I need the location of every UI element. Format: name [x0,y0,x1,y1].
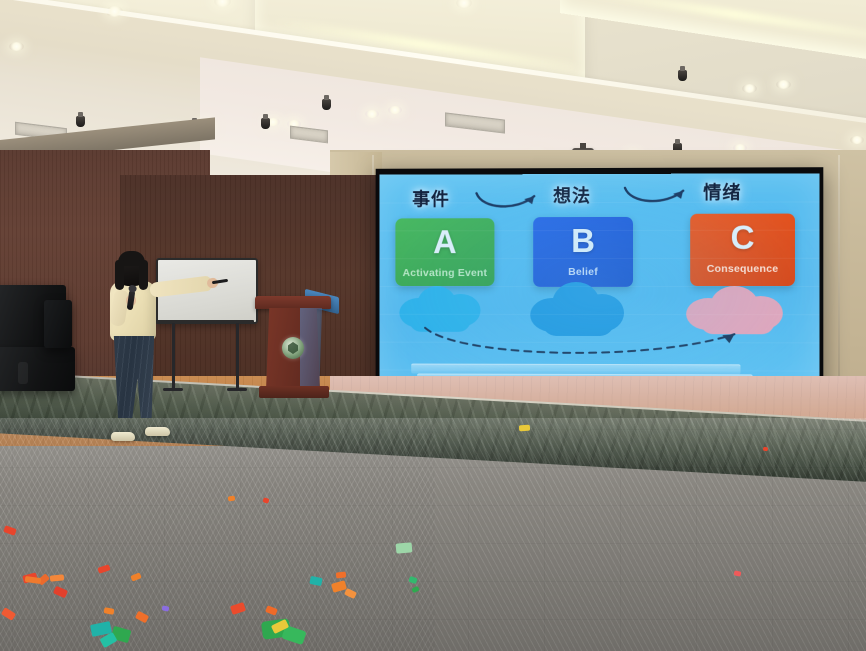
smoke-detector-icon [678,70,687,81]
ceiling-sensor-icon [76,116,85,127]
card-letter-c: C [730,221,754,254]
whiteboard-foot [227,388,247,391]
pa-speaker-bottom [0,347,75,391]
card-consequence[interactable]: C Consequence [690,214,795,286]
downlight-icon [365,110,379,118]
confetti-piece [336,571,347,578]
slide-heading-event: 事件 [412,185,450,211]
downlight-icon [9,42,24,51]
podium-base [259,386,329,398]
slide-heading-thought: 想法 [553,182,591,208]
card-label-c: Consequence [707,264,779,275]
presenter-shoe-right [145,427,170,436]
whiteboard-leg [236,323,239,389]
ceiling-sensor-icon [261,118,270,129]
card-letter-b: B [571,224,595,257]
whiteboard-leg [172,323,175,389]
downlight-icon [106,6,123,17]
speaker-port [18,362,28,384]
presentation-room-photo: 事件 想法 情绪 A Activating Event B Belief C C… [0,0,866,651]
confetti-piece [396,542,413,553]
presenter-hair-side-left [115,260,124,290]
card-activating-event[interactable]: A Activating Event [395,218,494,286]
downlight-icon [388,106,402,114]
ceiling-sensor-icon [322,99,331,110]
downlight-icon [776,80,791,89]
confetti-piece [519,425,530,432]
carpet-shading [0,418,866,651]
whiteboard-tray [156,320,254,324]
downlight-icon [742,84,757,93]
card-label-a: Activating Event [403,268,488,278]
led-video-wall[interactable]: 事件 想法 情绪 A Activating Event B Belief C C… [380,173,820,400]
whiteboard-foot [163,388,183,391]
card-belief[interactable]: B Belief [533,217,633,287]
podium-crest-emblem [282,337,304,359]
downlight-icon [850,136,864,144]
presenter-shoe-left [111,432,135,441]
presenter-hair-side-right [139,260,148,290]
arrow-feedback-loop-icon [419,324,748,365]
pa-speaker-far [44,300,72,348]
card-letter-a: A [433,225,457,258]
slide-heading-emotion: 情绪 [703,179,741,205]
arrow-b-to-c-icon [621,182,693,208]
arrow-a-to-b-icon [473,187,545,213]
podium-top [255,296,331,309]
card-label-b: Belief [568,267,598,278]
